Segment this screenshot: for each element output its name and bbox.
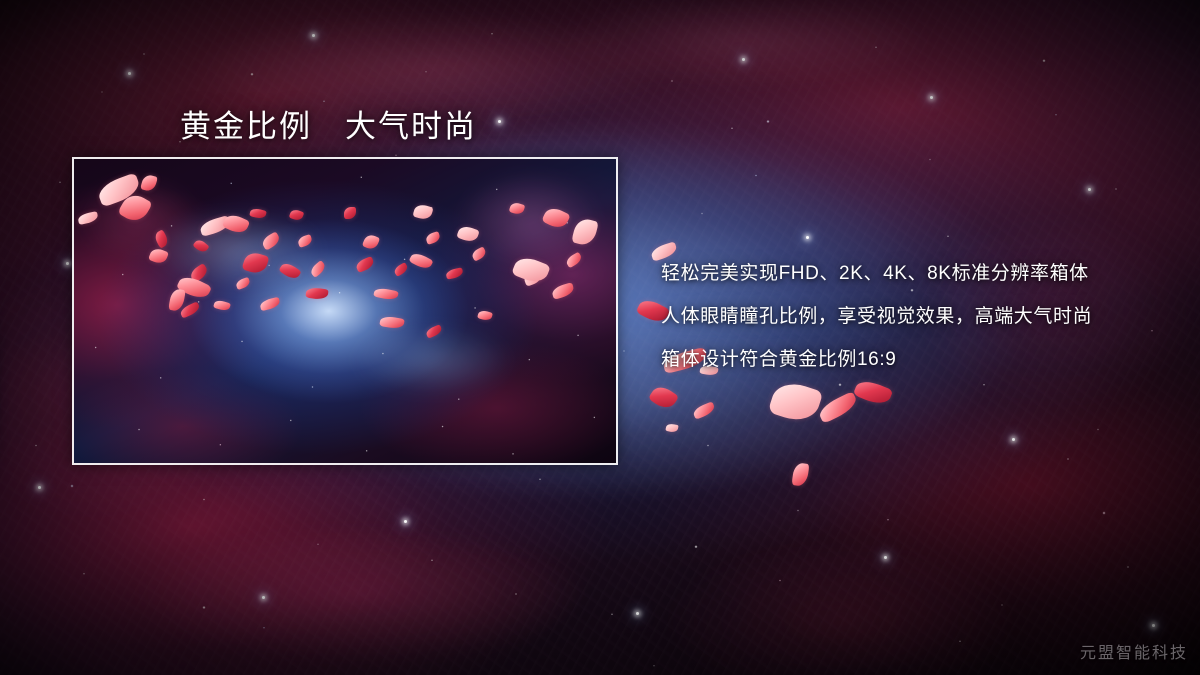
flower-petal — [362, 233, 380, 251]
flower-petal — [289, 208, 305, 222]
flower-petal — [791, 462, 809, 487]
flower-petal — [297, 234, 313, 248]
presentation-slide: 黄金比例 大气时尚 轻松完美实现FHD、2K、4K、8K标准分辨率箱体 人体眼睛… — [0, 0, 1200, 675]
flower-petal — [148, 246, 169, 265]
body-line-2: 人体眼睛瞳孔比例，享受视觉效果，高端大气时尚 — [661, 295, 1181, 338]
flower-petal — [541, 205, 570, 232]
flower-petal — [477, 309, 493, 322]
flower-petal — [648, 383, 679, 413]
flower-petal — [140, 173, 158, 192]
flower-petal — [259, 297, 281, 312]
flower-petal — [77, 211, 99, 225]
body-line-1: 轻松完美实现FHD、2K、4K、8K标准分辨率箱体 — [661, 252, 1181, 295]
flower-petal — [309, 260, 328, 278]
photo-petal-layer — [74, 159, 616, 463]
flower-petal — [565, 252, 584, 269]
framed-photo — [72, 157, 618, 465]
watermark: 元盟智能科技 — [1080, 639, 1188, 663]
photo-content — [74, 159, 616, 463]
body-copy-block: 轻松完美实现FHD、2K、4K、8K标准分辨率箱体 人体眼睛瞳孔比例，享受视觉效… — [661, 252, 1181, 381]
flower-petal — [571, 217, 599, 248]
flower-petal — [768, 378, 824, 427]
flower-petal — [509, 201, 526, 216]
page-title: 黄金比例 大气时尚 — [180, 101, 477, 146]
flower-petal — [551, 282, 575, 300]
flower-petal — [373, 287, 399, 302]
flower-petal — [192, 238, 209, 255]
flower-petal — [853, 377, 893, 408]
flower-petal — [305, 287, 328, 301]
flower-petal — [213, 299, 231, 313]
flower-petal — [344, 207, 356, 219]
flower-petal — [249, 207, 267, 220]
flower-petal — [241, 250, 269, 276]
flower-petal — [393, 262, 410, 277]
flower-petal — [692, 401, 717, 419]
flower-petal — [355, 256, 376, 273]
flower-petal — [471, 246, 488, 261]
flower-petal — [425, 324, 443, 338]
flower-petal — [445, 267, 463, 279]
flower-petal — [425, 231, 441, 245]
flower-petal — [456, 224, 480, 244]
body-line-3: 箱体设计符合黄金比例16:9 — [661, 338, 1181, 381]
flower-petal — [260, 231, 282, 250]
flower-petal — [278, 260, 301, 281]
flower-petal — [665, 423, 678, 433]
flower-petal — [235, 277, 251, 290]
flower-petal — [816, 391, 859, 424]
flower-petal — [412, 203, 433, 221]
flower-petal — [379, 315, 405, 330]
flower-petal — [408, 251, 433, 272]
flower-petal — [153, 229, 170, 248]
